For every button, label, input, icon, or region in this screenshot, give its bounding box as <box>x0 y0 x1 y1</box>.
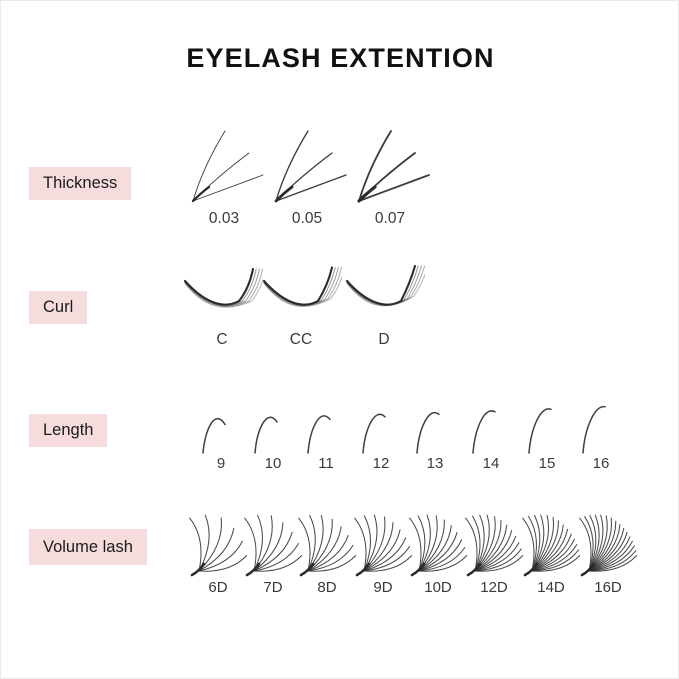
lash-volume-fan-icon <box>354 499 412 577</box>
lash-single-icon <box>407 393 463 459</box>
lash-single-icon <box>245 393 301 459</box>
row-label-curl: Curl <box>29 291 87 324</box>
lash-single-icon <box>193 393 249 459</box>
sample-length-2 <box>298 393 354 459</box>
sample-length-3 <box>353 393 409 459</box>
lash-volume-fan-icon <box>522 499 580 577</box>
caption-curl-0: C <box>181 331 263 349</box>
caption-length-4: 13 <box>407 455 463 472</box>
sample-curl-0 <box>181 265 263 323</box>
caption-thickness-0: 0.03 <box>183 210 265 228</box>
lash-single-icon <box>519 393 575 459</box>
sample-volume-2 <box>298 499 356 577</box>
row-label-volume: Volume lash <box>29 529 147 565</box>
sample-thickness-2 <box>349 127 431 207</box>
caption-thickness-1: 0.05 <box>266 210 348 228</box>
lash-fan-icon <box>266 127 348 207</box>
lash-fan-icon <box>349 127 431 207</box>
sample-thickness-1 <box>266 127 348 207</box>
lash-curl-icon <box>343 265 425 323</box>
lash-single-icon <box>353 393 409 459</box>
caption-length-2: 11 <box>298 455 354 472</box>
caption-length-0: 9 <box>193 455 249 472</box>
caption-volume-5: 12D <box>465 579 523 596</box>
lash-volume-fan-icon <box>409 499 467 577</box>
caption-length-6: 15 <box>519 455 575 472</box>
row-label-thickness: Thickness <box>29 167 131 200</box>
caption-length-7: 16 <box>573 455 629 472</box>
sample-volume-0 <box>189 499 247 577</box>
lash-single-icon <box>298 393 354 459</box>
sample-volume-1 <box>244 499 302 577</box>
caption-length-1: 10 <box>245 455 301 472</box>
caption-length-5: 14 <box>463 455 519 472</box>
page-title: EYELASH EXTENTION <box>1 43 679 74</box>
caption-volume-2: 8D <box>298 579 356 596</box>
caption-curl-1: CC <box>260 331 342 349</box>
caption-length-3: 12 <box>353 455 409 472</box>
sample-volume-5 <box>465 499 523 577</box>
sample-volume-3 <box>354 499 412 577</box>
sample-length-0 <box>193 393 249 459</box>
sample-volume-7 <box>579 499 637 577</box>
lash-fan-icon <box>183 127 265 207</box>
infographic-canvas: EYELASH EXTENTION Thickness 0.03 0.05 0.… <box>0 0 679 679</box>
caption-volume-0: 6D <box>189 579 247 596</box>
caption-volume-6: 14D <box>522 579 580 596</box>
sample-curl-1 <box>260 265 342 323</box>
lash-curl-icon <box>260 265 342 323</box>
caption-thickness-2: 0.07 <box>349 210 431 228</box>
sample-volume-4 <box>409 499 467 577</box>
sample-length-1 <box>245 393 301 459</box>
lash-volume-fan-icon <box>579 499 637 577</box>
caption-volume-7: 16D <box>579 579 637 596</box>
sample-length-4 <box>407 393 463 459</box>
lash-volume-fan-icon <box>298 499 356 577</box>
lash-volume-fan-icon <box>465 499 523 577</box>
caption-curl-2: D <box>343 331 425 349</box>
caption-volume-1: 7D <box>244 579 302 596</box>
lash-single-icon <box>573 393 629 459</box>
lash-curl-icon <box>181 265 263 323</box>
sample-volume-6 <box>522 499 580 577</box>
row-label-length: Length <box>29 414 107 447</box>
sample-length-5 <box>463 393 519 459</box>
lash-volume-fan-icon <box>244 499 302 577</box>
sample-length-7 <box>573 393 629 459</box>
lash-single-icon <box>463 393 519 459</box>
sample-length-6 <box>519 393 575 459</box>
lash-volume-fan-icon <box>189 499 247 577</box>
caption-volume-4: 10D <box>409 579 467 596</box>
caption-volume-3: 9D <box>354 579 412 596</box>
sample-thickness-0 <box>183 127 265 207</box>
sample-curl-2 <box>343 265 425 323</box>
